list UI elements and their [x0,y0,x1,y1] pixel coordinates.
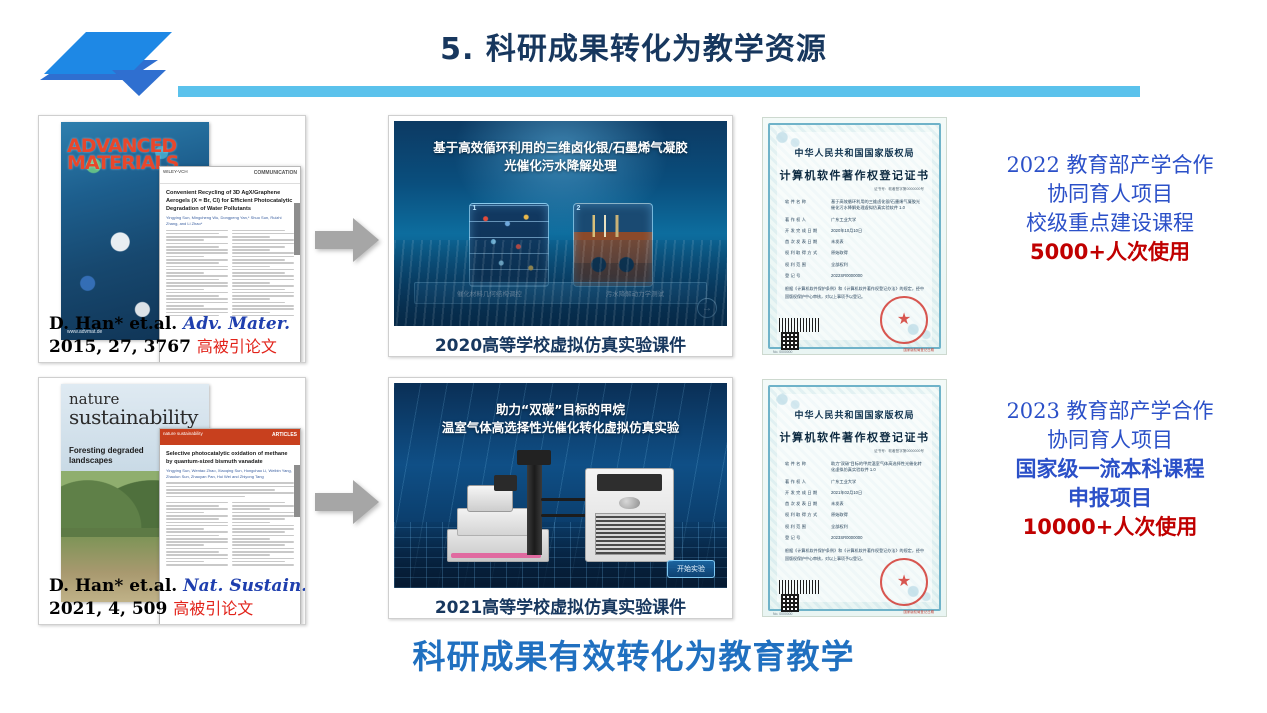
courseware-caption: 2021高等学校虚拟仿真实验课件 [394,588,727,622]
certificate-field: 软件名称基于高效循环利用的三维卤化银/石墨烯气凝胶光催化污水降解处理虚拟仿真实验… [785,199,924,212]
module-card-2-caption: 污水降解动力学测试 [606,288,665,298]
certificate-field: 开发完成日期2021年02月10日 [785,490,924,496]
certificate-title: 计算机软件著作权登记证书 [777,167,932,183]
certificate-field: 权利取得方式原始取得 [785,512,924,518]
article-body-columns [160,227,300,322]
courseware-screen[interactable]: 基于高效循环利用的三维卤化银/石墨烯气凝胶 光催化污水降解处理 1 2 催 [394,121,727,326]
citation-authors: D. Han* et.al. [49,314,177,334]
article-side-tab [294,203,300,255]
article-section-label: COMMUNICATION [254,170,297,176]
certificate-field: 软件名称助力“双碳”目标的甲烷温室气体高选择性光催化转化虚拟仿真实验软件 1.0 [785,461,924,474]
courseware-panel[interactable]: 基于高效循环利用的三维卤化银/石墨烯气凝胶 光催化污水降解处理 1 2 催 [388,115,733,357]
module-card-1-caption: 催化材料几何结构调控 [457,288,522,298]
certificate-field: 著作权人广东工业大学 [785,479,924,485]
highlight-line: 2022 教育部产学合作 [1006,151,1213,180]
start-experiment-button[interactable]: 开始实验 [667,560,715,578]
citation-volume: 2015, 27, 3767 [49,337,191,357]
bottom-banner: 科研成果有效转化为教育教学 [0,630,1267,678]
article-side-tab [294,465,300,517]
certificate-number-label: 证书号：软著登字第0000000号 [777,187,932,192]
page-title: 5. 科研成果转化为教学资源 [0,24,1267,68]
next-arrow-icon[interactable]: → [697,298,717,318]
certificate-field: 登记号2023SR0000000 [785,535,924,541]
photoreactor-illustration [394,444,727,562]
pipes-graphic [581,255,643,280]
official-seal-icon: ★ [880,296,928,344]
certificate-authority: 中华人民共和国国家版权局 [777,408,932,421]
certificate-serial: No. 0000000 [773,612,792,616]
slide-header: 5. 科研成果转化为教学资源 [0,0,1267,108]
certificate-field: 著作权人广东工业大学 [785,217,924,223]
article-abstract [160,479,300,497]
module-card-2[interactable]: 2 [573,203,653,287]
certificate-fields: 软件名称基于高效循环利用的三维卤化银/石墨烯气凝胶光催化污水降解处理虚拟仿真实验… [777,199,932,279]
courseware-panel[interactable]: 助力“双碳”目标的甲烷 温室气体高选择性光催化转化虚拟仿真实验 [388,377,733,619]
module-card-1-number: 1 [473,205,477,212]
cover-brand: nature sustainability [69,392,198,427]
certificate-issue-date: 国家版权局登记日期 [903,347,934,352]
courseware-title-line-2: 光催化污水降解处理 [394,157,727,175]
module-card-1[interactable]: 1 [469,203,549,287]
highlight-line: 协同育人项目 [1047,180,1173,209]
citation-journal: Adv. Mater. [183,314,290,334]
highlight-line: 国家级一流本科课程 [1016,455,1205,484]
highlight-usage-count: 5000+人次使用 [1030,238,1190,267]
barcode-icon [779,580,821,594]
row-2-highlight-text: 2023 教育部产学合作 协同育人项目 国家级一流本科课程 申报项目 10000… [960,383,1260,623]
citation-badge: 高被引论文 [197,337,277,356]
certificate-field: 权利范围全部权利 [785,262,924,268]
certificate-issue-date: 国家版权局登记日期 [903,609,934,614]
row-1-highlight-text: 2022 教育部产学合作 协同育人项目 校级重点建设课程 5000+人次使用 [960,121,1260,361]
certificate-field: 权利取得方式原始取得 [785,250,924,256]
factory-graphic [586,215,639,236]
courseware-title: 基于高效循环利用的三维卤化银/石墨烯气凝胶 光催化污水降解处理 [394,139,727,175]
certificate-field: 首次发表日期未发表 [785,239,924,245]
seal-star-icon: ★ [897,574,911,590]
certificate-field: 权利范围全部权利 [785,524,924,530]
copyright-certificate: 中华人民共和国国家版权局 计算机软件著作权登记证书 证书号：软著登字第00000… [762,117,947,355]
official-seal-icon: ★ [880,558,928,606]
transform-arrow-icon [315,215,381,265]
certificate-serial: No. 0000000 [773,350,792,354]
article-body-columns [160,499,300,571]
barcode-icon [779,318,821,332]
transform-arrow-icon [315,477,381,527]
citation-badge: 高被引论文 [173,599,253,618]
journal-panel: ADVANCED MATERIALS www.advmat.de WILEY-V… [38,115,306,363]
highlight-usage-count: 10000+人次使用 [1023,513,1198,542]
article-title: Selective photocatalytic oxidation of me… [160,445,300,468]
article-title: Convenient Recycling of 3D AgX/Graphene … [160,184,300,215]
article-section-label: ARTICLES [272,432,297,438]
courseware-title-line-2: 温室气体高选择性光催化转化虚拟仿真实验 [394,419,727,437]
journal-panel: nature sustainability Foresting degraded… [38,377,306,625]
courseware-screen[interactable]: 助力“双碳”目标的甲烷 温室气体高选择性光催化转化虚拟仿真实验 [394,383,727,588]
article-authors: Yingying Sun, Wentao Zhao, Xiaoqing Sun,… [160,468,300,479]
certificate-field: 登记号2022SR0000000 [785,273,924,279]
module-card-2-number: 2 [577,205,581,212]
module-captions-bar: 催化材料几何结构调控 污水降解动力学测试 [414,282,707,304]
content-row-1: ADVANCED MATERIALS www.advmat.de WILEY-V… [0,115,1267,365]
content-row-2: nature sustainability Foresting degraded… [0,377,1267,627]
article-authors: Yingying Sun, Mingcheng Wu, Dongpeng Yan… [160,215,300,226]
highlight-line: 申报项目 [1068,484,1152,513]
highlight-line: 2023 教育部产学合作 [1006,397,1213,426]
article-publisher: WILEY-VCH [163,170,188,175]
catalyst-structure-graphic [470,204,548,286]
courseware-caption: 2020高等学校虚拟仿真实验课件 [394,326,727,360]
cover-brand-line2: sustainability [69,407,198,427]
citation-authors: D. Han* et.al. [49,576,177,596]
certificate-title: 计算机软件著作权登记证书 [777,429,932,445]
courseware-title: 助力“双碳”目标的甲烷 温室气体高选择性光催化转化虚拟仿真实验 [394,401,727,437]
qr-code-icon [781,332,799,350]
citation-block: D. Han* et.al. Nat. Sustain. 2021, 4, 50… [45,575,303,620]
courseware-module-cards: 1 2 [394,203,727,287]
slide-root: 5. 科研成果转化为教学资源 ADVANCED MATERIALS www.ad… [0,0,1267,713]
certificate-fields: 软件名称助力“双碳”目标的甲烷温室气体高选择性光催化转化虚拟仿真实验软件 1.0… [777,461,932,541]
highlight-line: 协同育人项目 [1047,426,1173,455]
certificate-authority: 中华人民共和国国家版权局 [777,146,932,159]
seal-star-icon: ★ [897,312,911,328]
citation-block: D. Han* et.al. Adv. Mater. 2015, 27, 376… [45,313,303,358]
certificate-field: 首次发表日期未发表 [785,501,924,507]
article-publisher: nature sustainability [163,432,203,437]
courseware-title-line-1: 助力“双碳”目标的甲烷 [394,401,727,419]
certificate-field: 开发完成日期2020年10月10日 [785,228,924,234]
qr-code-icon [781,594,799,612]
title-underline-rule [178,86,1140,97]
certificate-number-label: 证书号：软著登字第0000000号 [777,449,932,454]
courseware-title-line-1: 基于高效循环利用的三维卤化银/石墨烯气凝胶 [394,139,727,157]
citation-journal: Nat. Sustain. [183,576,305,596]
highlight-line: 校级重点建设课程 [1026,209,1194,238]
citation-volume: 2021, 4, 509 [49,599,167,619]
copyright-certificate: 中华人民共和国国家版权局 计算机软件著作权登记证书 证书号：软著登字第00000… [762,379,947,617]
